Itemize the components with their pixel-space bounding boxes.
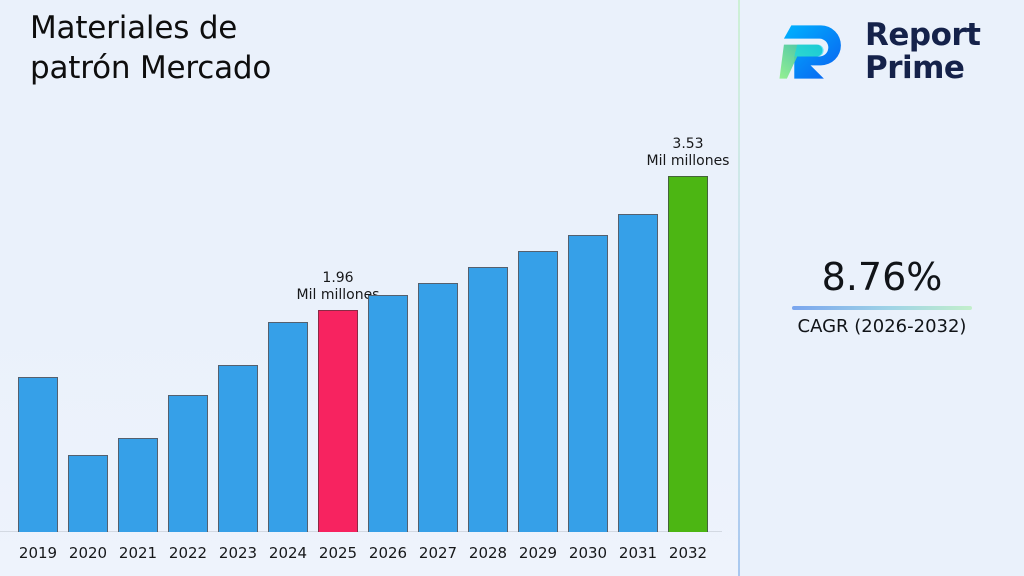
- bar-2026[interactable]: [363, 42, 413, 532]
- bar-rect-2019[interactable]: [18, 377, 58, 532]
- chart-panel: Materiales de patrón Mercado 1.96 Mil mi…: [0, 0, 739, 576]
- bar-2029[interactable]: [513, 42, 563, 532]
- brand-name: Report Prime: [865, 19, 981, 85]
- bar-rect-2030[interactable]: [568, 235, 608, 532]
- rp-logo-icon: [777, 15, 853, 89]
- cagr-divider-rule: [792, 306, 972, 310]
- bar-rect-2026[interactable]: [368, 295, 408, 532]
- x-tick-2029: 2029: [513, 544, 563, 562]
- x-tick-2023: 2023: [213, 544, 263, 562]
- x-tick-2031: 2031: [613, 544, 663, 562]
- report-prime-logo: Report Prime: [777, 10, 1007, 94]
- bar-2032[interactable]: 3.53 Mil millones: [663, 42, 713, 532]
- x-tick-2032: 2032: [663, 544, 713, 562]
- bar-2020[interactable]: [63, 42, 113, 532]
- x-tick-2021: 2021: [113, 544, 163, 562]
- bar-2031[interactable]: [613, 42, 663, 532]
- x-tick-2027: 2027: [413, 544, 463, 562]
- bar-chart-plot: 1.96 Mil millones3.53 Mil millones 20192…: [0, 0, 739, 576]
- bar-rect-2021[interactable]: [118, 438, 158, 532]
- brand-panel: Report Prime 8.76% CAGR (2026-2032): [740, 0, 1024, 576]
- x-tick-2026: 2026: [363, 544, 413, 562]
- x-tick-2025: 2025: [313, 544, 363, 562]
- x-tick-2030: 2030: [563, 544, 613, 562]
- x-tick-2020: 2020: [63, 544, 113, 562]
- bar-rect-2023[interactable]: [218, 365, 258, 532]
- bar-rect-2032[interactable]: [668, 176, 708, 532]
- bar-rect-2031[interactable]: [618, 214, 658, 532]
- bar-rect-2025[interactable]: [318, 310, 358, 532]
- x-tick-2024: 2024: [263, 544, 313, 562]
- bar-rect-2024[interactable]: [268, 322, 308, 532]
- bar-rect-2029[interactable]: [518, 251, 558, 532]
- bar-2021[interactable]: [113, 42, 163, 532]
- x-tick-2019: 2019: [13, 544, 63, 562]
- bar-2025[interactable]: 1.96 Mil millones: [313, 42, 363, 532]
- bar-2022[interactable]: [163, 42, 213, 532]
- bar-rect-2027[interactable]: [418, 283, 458, 532]
- bar-2028[interactable]: [463, 42, 513, 532]
- cagr-block: 8.76% CAGR (2026-2032): [740, 255, 1024, 339]
- bar-2023[interactable]: [213, 42, 263, 532]
- bar-2019[interactable]: [13, 42, 63, 532]
- bar-rect-2028[interactable]: [468, 267, 508, 532]
- x-tick-2028: 2028: [463, 544, 513, 562]
- x-tick-2022: 2022: [163, 544, 213, 562]
- chart-infographic: Materiales de patrón Mercado 1.96 Mil mi…: [0, 0, 1024, 576]
- cagr-label: CAGR (2026-2032): [740, 315, 1024, 339]
- bar-rect-2022[interactable]: [168, 395, 208, 532]
- bar-2030[interactable]: [563, 42, 613, 532]
- cagr-value: 8.76%: [740, 255, 1024, 299]
- bar-rect-2020[interactable]: [68, 455, 108, 532]
- bar-2027[interactable]: [413, 42, 463, 532]
